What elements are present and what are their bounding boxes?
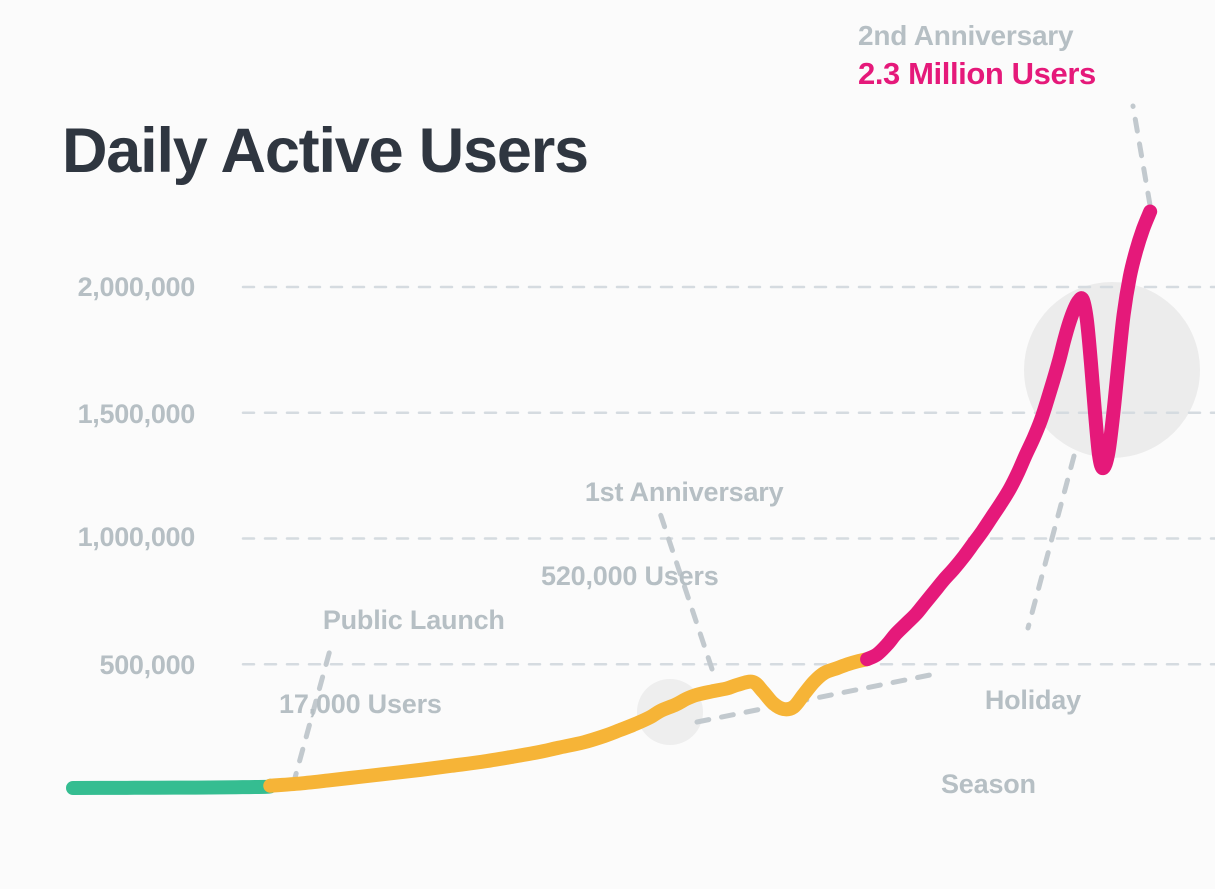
public-launch-leader [293,650,330,785]
data-series-lines [73,212,1150,788]
series-line-year-1-growth [270,659,867,786]
first-anniversary-leader [660,513,712,669]
second-anniversary-leader [1133,106,1150,205]
infographic-canvas: Daily Active Users 2,000,000 1,500,000 1… [0,0,1215,857]
chart-svg [0,0,1215,857]
series-line-year-2-growth [867,212,1150,660]
series-line-pre-launch-beta [73,786,271,788]
holiday-season-leader-year2 [1028,456,1074,628]
